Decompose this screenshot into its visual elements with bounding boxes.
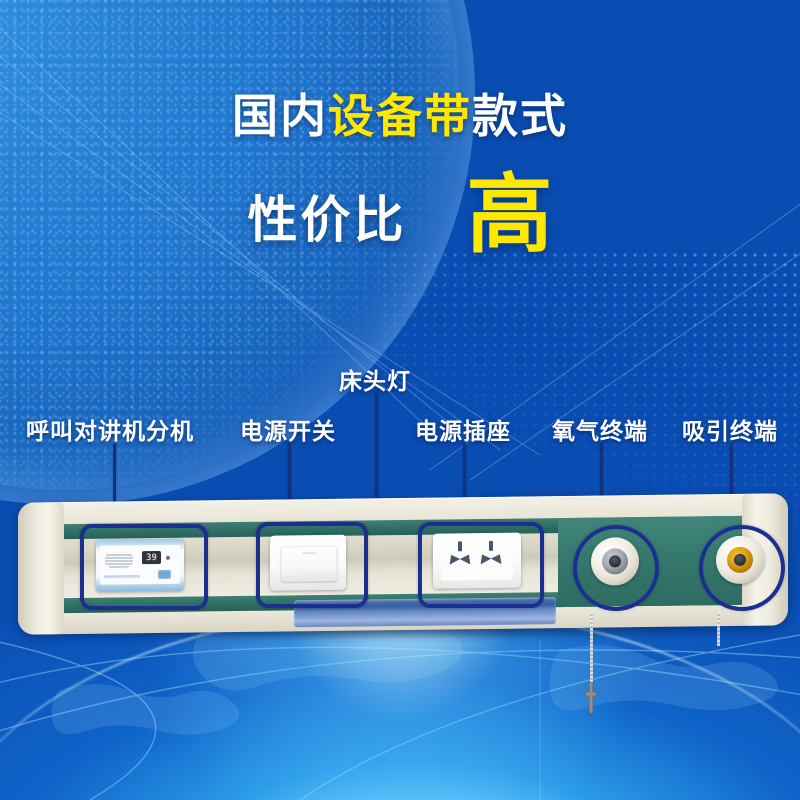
callout-bed-lamp-label: 床头灯 (339, 362, 411, 396)
suction-terminal-cord (717, 612, 720, 646)
panel-end-cap-left (18, 502, 64, 635)
bed-head-unit-panel: 39 (18, 498, 788, 638)
cord-connector-plug-icon (578, 682, 604, 716)
highlight-ring-oxygen (573, 525, 659, 611)
highlight-frame-power-switch (256, 522, 368, 608)
oxygen-terminal-cord (590, 612, 593, 690)
callout-oxygen-outlet-label: 氧气终端 (552, 412, 648, 446)
callout-layer: 呼叫对讲机分机 电源开关 床头灯 电源插座 氧气终端 吸引终端 (0, 0, 800, 800)
highlight-frame-power-outlet (418, 522, 544, 608)
callout-power-outlet-label: 电源插座 (415, 412, 511, 446)
highlight-frame-intercom (80, 524, 208, 610)
callout-suction-outlet-label: 吸引终端 (682, 412, 778, 446)
callout-intercom-label: 呼叫对讲机分机 (26, 412, 194, 446)
highlight-ring-suction (699, 525, 785, 611)
promo-banner: 国内设备带款式 性价比 高 呼叫对讲机分机 电源开关 床头灯 电源插座 氧气终端 (0, 0, 800, 800)
callout-power-switch-label: 电源开关 (240, 412, 336, 446)
